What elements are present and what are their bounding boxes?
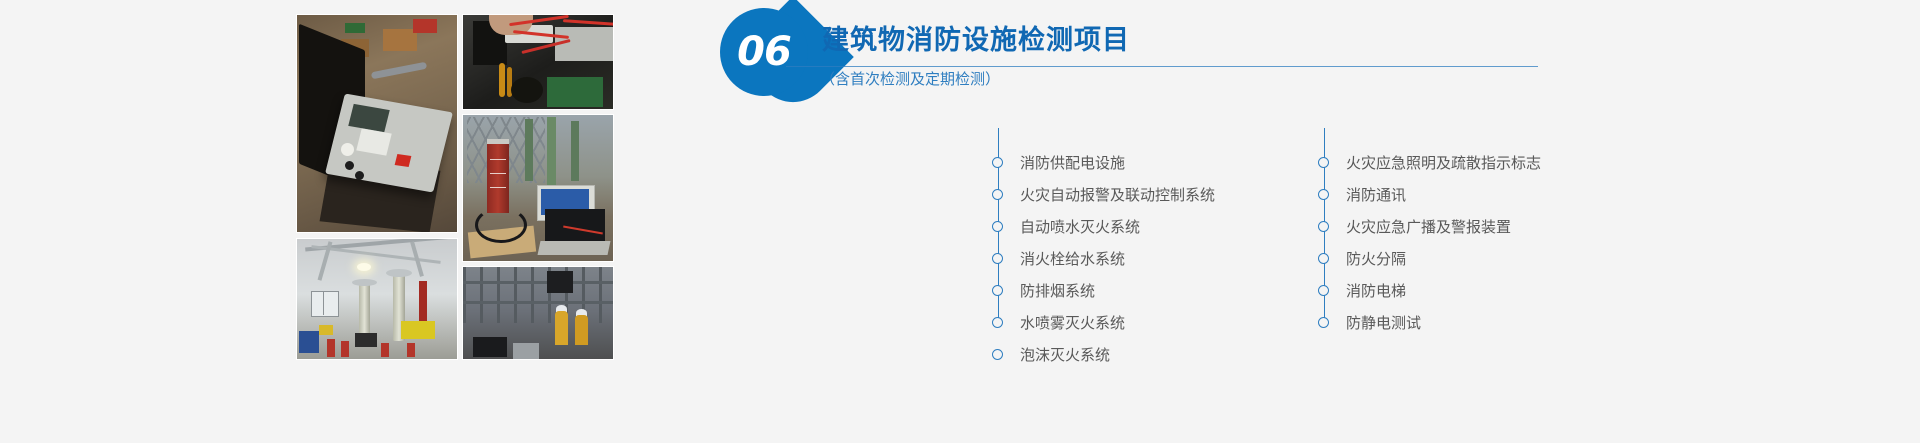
- photo-detail: [355, 171, 364, 180]
- bullet-circle-icon: [992, 317, 1003, 328]
- photo-detail: [345, 161, 354, 170]
- photo-detail: [381, 343, 389, 357]
- bullet-circle-icon: [1318, 317, 1329, 328]
- photo-detail: [319, 325, 333, 335]
- photo-detail: [463, 301, 613, 304]
- list-item-label: 消火栓给水系统: [1020, 244, 1125, 276]
- bullet-circle-icon: [992, 253, 1003, 264]
- photo-detail: [401, 321, 435, 339]
- photo-detail: [341, 143, 354, 156]
- bullet-circle-icon: [992, 189, 1003, 200]
- list-item-label: 消防供配电设施: [1020, 148, 1125, 180]
- photo-detail: [323, 291, 324, 315]
- bullet-circle-icon: [992, 285, 1003, 296]
- photo-detail: [327, 339, 335, 357]
- section-number: 06: [720, 8, 808, 96]
- photo-detail: [490, 187, 506, 188]
- photo-detail: [475, 207, 527, 243]
- bullet-circle-icon: [992, 349, 1003, 360]
- photo-detail: [395, 154, 412, 167]
- photo-detail: [386, 269, 412, 277]
- bullet-circle-icon: [992, 221, 1003, 232]
- photo-detail: [345, 23, 365, 33]
- photo-detail: [499, 63, 505, 97]
- list-item-label: 防静电测试: [1346, 308, 1421, 340]
- photo-substation-workers[interactable]: [462, 266, 614, 360]
- gallery-column-left: [296, 10, 458, 360]
- photo-detail: [513, 343, 539, 359]
- photo-detail: [511, 77, 543, 103]
- photo-indoor-high-voltage-test-lab[interactable]: [296, 238, 458, 360]
- section-banner: 06 建筑物消防设施检测项目 （含首次检测及定期检测） 消防供配电设施 火灾自动…: [0, 0, 1920, 443]
- photo-gallery: [296, 10, 614, 360]
- photo-detail: [575, 315, 588, 345]
- photo-instrument-case-on-workbench[interactable]: [296, 14, 458, 233]
- page-title: 建筑物消防设施检测项目: [822, 18, 1130, 57]
- bullet-circle-icon: [1318, 253, 1329, 264]
- photo-detail: [473, 337, 507, 357]
- photo-detail: [555, 27, 614, 61]
- photo-detail: [352, 279, 377, 286]
- title-divider: [786, 66, 1538, 67]
- list-item-label: 防火分隔: [1346, 244, 1406, 276]
- photo-cable-terminal-closeup[interactable]: [462, 14, 614, 110]
- photo-detail: [463, 267, 613, 323]
- photo-detail: [525, 119, 533, 181]
- photo-detail: [487, 139, 509, 144]
- list-item-label: 火灾应急广播及警报装置: [1346, 212, 1511, 244]
- list-item-label: 泡沫灭火系统: [1020, 340, 1110, 372]
- bullet-circle-icon: [1318, 285, 1329, 296]
- photo-detail: [463, 281, 613, 284]
- photo-detail: [357, 263, 371, 271]
- photo-detail: [383, 29, 417, 51]
- bullet-circle-icon: [1318, 157, 1329, 168]
- photo-outdoor-substation-field-test[interactable]: [462, 114, 614, 262]
- photo-detail: [547, 271, 573, 293]
- photo-detail: [538, 241, 611, 255]
- list-item-label: 火灾自动报警及联动控制系统: [1020, 180, 1215, 212]
- list-item-label: 火灾应急照明及疏散指示标志: [1346, 148, 1541, 180]
- bullet-circle-icon: [992, 157, 1003, 168]
- section-number-badge: 06: [716, 4, 836, 134]
- photo-detail: [341, 341, 349, 357]
- page-subtitle: （含首次检测及定期检测）: [820, 68, 1000, 89]
- photo-detail: [355, 333, 377, 347]
- photo-detail: [299, 331, 319, 353]
- photo-detail: [547, 117, 556, 187]
- list-item-label: 防排烟系统: [1020, 276, 1095, 308]
- photo-detail: [490, 173, 506, 174]
- list-item-label: 水喷雾灭火系统: [1020, 308, 1125, 340]
- bullet-circle-icon: [1318, 189, 1329, 200]
- photo-detail: [413, 19, 437, 33]
- list-item-label: 消防通讯: [1346, 180, 1406, 212]
- photo-detail: [487, 141, 509, 213]
- list-item-label: 自动喷水灭火系统: [1020, 212, 1140, 244]
- list-item-label: 消防电梯: [1346, 276, 1406, 308]
- photo-detail: [407, 343, 415, 357]
- photo-detail: [555, 311, 568, 345]
- bullet-circle-icon: [1318, 221, 1329, 232]
- photo-detail: [311, 291, 339, 317]
- photo-detail: [490, 159, 506, 160]
- photo-detail: [571, 121, 579, 181]
- gallery-column-right: [462, 10, 614, 360]
- photo-detail: [547, 77, 603, 107]
